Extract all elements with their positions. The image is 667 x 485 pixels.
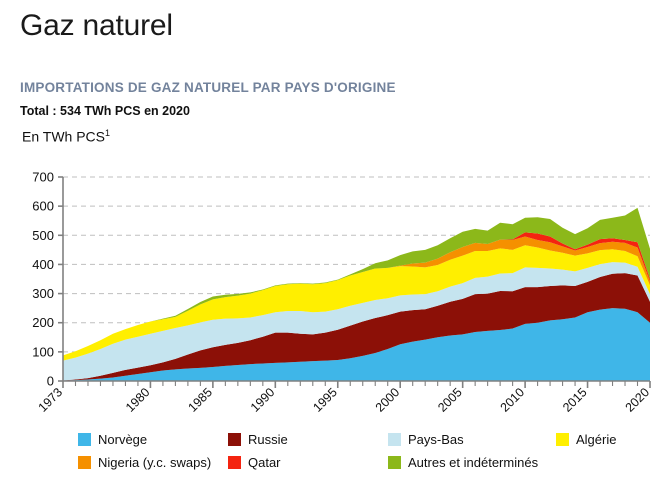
- legend-item[interactable]: Russie: [228, 432, 288, 447]
- chart-y-axis: [58, 177, 63, 381]
- chart-y-tick-labels: 0100200300400500600700: [32, 170, 54, 389]
- legend-item[interactable]: Algérie: [556, 432, 616, 447]
- stacked-area-chart: 0100200300400500600700 19731980198519901…: [0, 0, 667, 430]
- x-tick-label: 1980: [123, 385, 153, 415]
- legend-item[interactable]: Nigeria (y.c. swaps): [78, 455, 211, 470]
- chart-area-series: [63, 208, 650, 381]
- y-tick-label: 700: [32, 170, 54, 185]
- legend-swatch-icon: [78, 433, 91, 446]
- y-tick-label: 600: [32, 199, 54, 214]
- legend-swatch-icon: [388, 433, 401, 446]
- legend-item[interactable]: Autres et indéterminés: [388, 455, 538, 470]
- legend-item-label: Autres et indéterminés: [408, 455, 538, 470]
- x-tick-label: 1995: [310, 385, 340, 415]
- legend-item[interactable]: Norvège: [78, 432, 147, 447]
- y-tick-label: 400: [32, 257, 54, 272]
- chart-x-tick-labels: 1973198019851990199520002005201020152020: [36, 385, 653, 415]
- legend-item-label: Russie: [248, 432, 288, 447]
- chart-plot-area: 0100200300400500600700 19731980198519901…: [0, 0, 667, 430]
- chart-x-axis: [63, 381, 650, 388]
- legend-item-label: Algérie: [576, 432, 616, 447]
- legend-item-label: Pays-Bas: [408, 432, 464, 447]
- x-tick-label: 1973: [36, 385, 66, 415]
- x-tick-label: 2015: [560, 385, 590, 415]
- x-tick-label: 2005: [435, 385, 465, 415]
- legend-item[interactable]: Pays-Bas: [388, 432, 464, 447]
- x-tick-label: 2000: [373, 385, 403, 415]
- x-tick-label: 2020: [623, 385, 653, 415]
- x-tick-label: 1990: [248, 385, 278, 415]
- legend-item[interactable]: Qatar: [228, 455, 281, 470]
- legend-swatch-icon: [556, 433, 569, 446]
- legend-swatch-icon: [228, 456, 241, 469]
- legend-item-label: Nigeria (y.c. swaps): [98, 455, 211, 470]
- legend-swatch-icon: [78, 456, 91, 469]
- y-tick-label: 500: [32, 228, 54, 243]
- legend-swatch-icon: [388, 456, 401, 469]
- y-tick-label: 200: [32, 315, 54, 330]
- page-root: Gaz naturel IMPORTATIONS DE GAZ NATUREL …: [0, 0, 667, 485]
- legend-swatch-icon: [228, 433, 241, 446]
- x-tick-label: 1985: [185, 385, 215, 415]
- y-tick-label: 100: [32, 344, 54, 359]
- chart-legend: NorvègeRussiePays-BasAlgérieNigeria (y.c…: [78, 432, 667, 482]
- legend-item-label: Qatar: [248, 455, 281, 470]
- x-tick-label: 2010: [498, 385, 528, 415]
- legend-item-label: Norvège: [98, 432, 147, 447]
- y-tick-label: 300: [32, 286, 54, 301]
